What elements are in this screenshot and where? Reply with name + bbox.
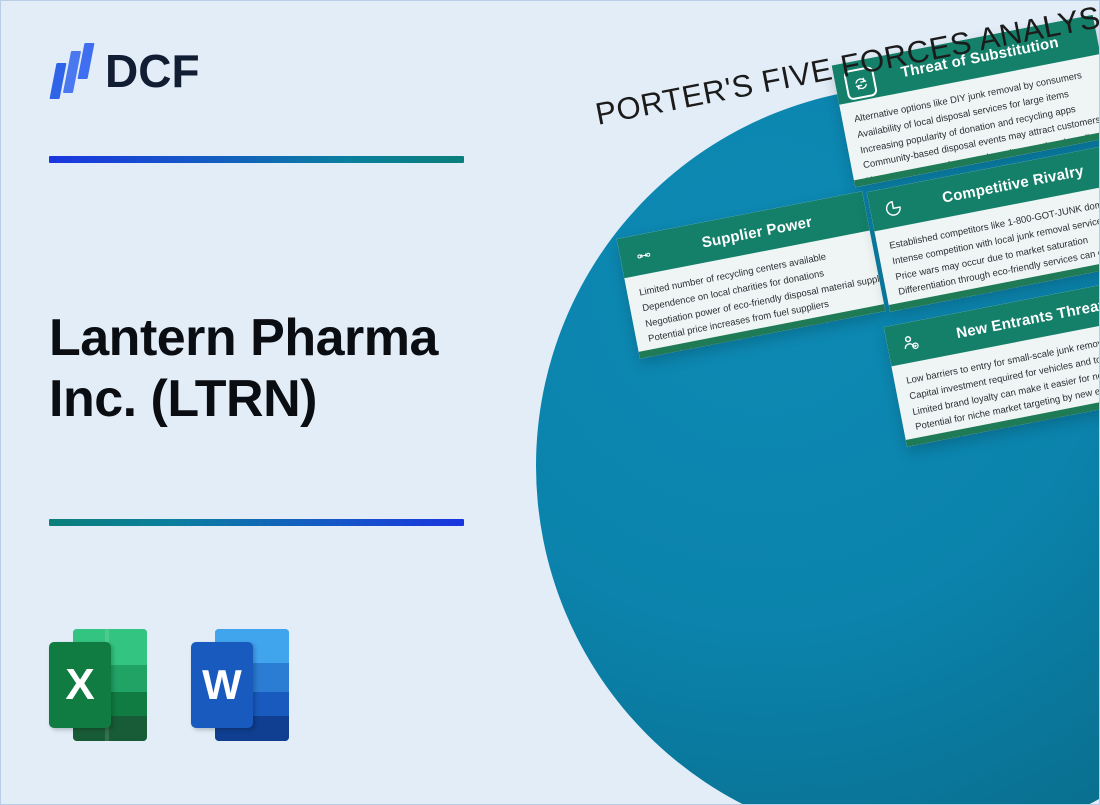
left-panel: DCF Lantern Pharma Inc. (LTRN) X W: [1, 1, 561, 805]
person-add-icon: [895, 328, 925, 358]
brand-name: DCF: [105, 48, 200, 94]
word-icon[interactable]: W: [191, 629, 289, 741]
excel-icon[interactable]: X: [49, 629, 147, 741]
excel-letter: X: [49, 642, 111, 728]
download-icons: X W: [49, 629, 289, 741]
divider-top: [49, 156, 464, 163]
page-title: Lantern Pharma Inc. (LTRN): [49, 308, 519, 431]
five-forces-graphic: PORTER'S FIVE FORCES ANALYSIS Threat of …: [501, 1, 1100, 805]
word-letter: W: [191, 642, 253, 728]
divider-bottom: [49, 519, 464, 526]
pie-chart-icon: [878, 193, 908, 223]
page-root: DCF Lantern Pharma Inc. (LTRN) X W: [0, 0, 1100, 805]
dcf-bars-logo-icon: [49, 43, 95, 99]
link-handshake-icon: [628, 240, 658, 270]
brand-logo[interactable]: DCF: [49, 43, 200, 99]
